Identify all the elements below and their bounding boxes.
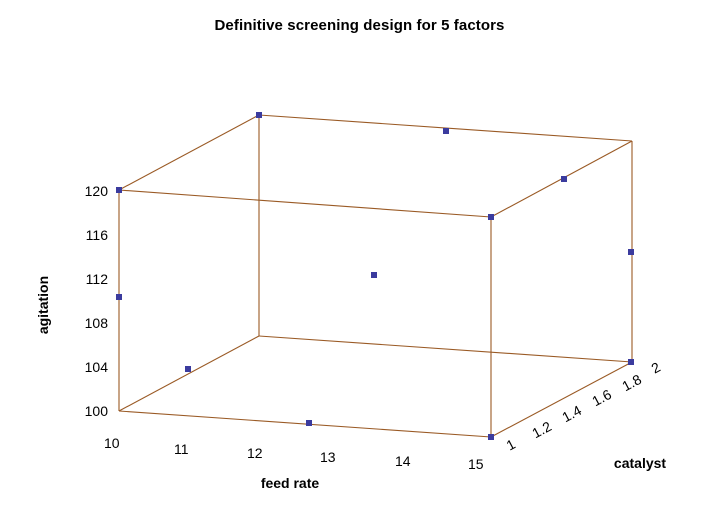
y-axis-label: catalyst [614,455,666,471]
data-point [443,128,449,134]
data-point [628,359,634,365]
z-tick-1: 104 [85,359,109,375]
box-edge-bottom-front [119,411,491,437]
chart-container: Definitive screening design for 5 factor… [0,0,719,517]
data-point [256,112,262,118]
box-edge-top-front [119,190,491,217]
data-point [185,366,191,372]
x-axis-label: feed rate [261,475,320,491]
z-axis-label: agitation [35,276,51,334]
y-tick-3: 1.6 [589,386,614,409]
data-points [116,112,634,440]
y-tick-5: 2 [648,359,663,377]
data-point [116,294,122,300]
data-point [488,214,494,220]
y-tick-4: 1.8 [619,371,644,394]
y-axis-ticks: 1 1.2 1.4 1.6 1.8 2 [503,359,663,454]
y-tick-1: 1.2 [529,418,554,441]
data-point [488,434,494,440]
z-tick-0: 100 [85,403,109,419]
box-edge-bottom-left [119,336,259,411]
scatter-plot-3d: 100 104 108 112 116 120 agitation 10 11 … [0,0,719,517]
x-tick-0: 10 [104,435,120,451]
box-edge-bottom-back [259,336,632,362]
data-point [306,420,312,426]
y-tick-0: 1 [503,436,518,454]
x-tick-3: 13 [320,449,336,465]
y-tick-2: 1.4 [559,402,584,425]
x-tick-1: 11 [174,441,189,457]
data-point [371,272,377,278]
z-tick-3: 112 [86,271,109,287]
z-tick-2: 108 [85,315,109,331]
z-tick-4: 116 [86,227,109,243]
x-tick-5: 15 [468,456,484,472]
data-point [116,187,122,193]
box-edge-top-left [119,115,259,190]
z-axis-ticks: 100 104 108 112 116 120 [85,183,109,419]
x-tick-4: 14 [395,453,411,469]
x-axis-ticks: 10 11 12 13 14 15 [104,435,484,472]
x-tick-2: 12 [247,445,263,461]
data-point [628,249,634,255]
z-tick-5: 120 [85,183,109,199]
data-point [561,176,567,182]
